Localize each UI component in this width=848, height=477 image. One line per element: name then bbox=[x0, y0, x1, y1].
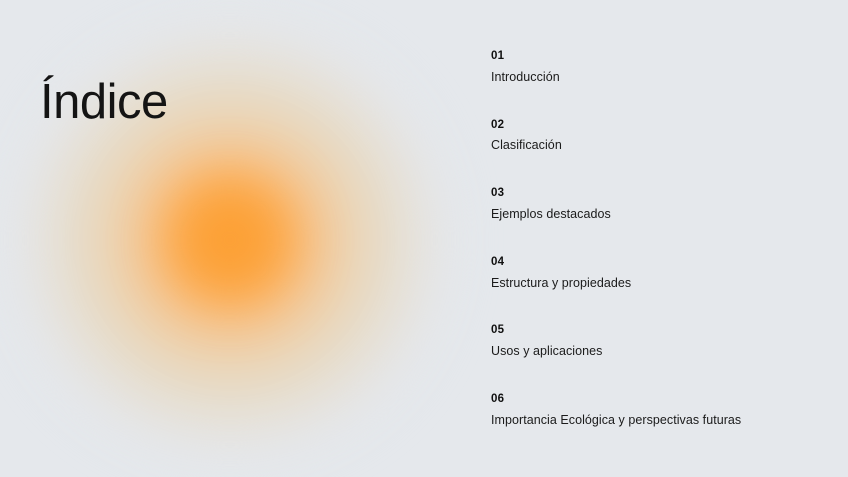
toc-item-02[interactable]: 02 Clasificación bbox=[491, 117, 821, 156]
toc-item-number: 05 bbox=[491, 322, 821, 340]
slide-canvas: Índice 01 Introducción 02 Clasificación … bbox=[0, 0, 848, 477]
table-of-contents: 01 Introducción 02 Clasificación 03 Ejem… bbox=[491, 48, 821, 429]
page-title: Índice bbox=[40, 77, 168, 128]
toc-item-number: 06 bbox=[491, 391, 821, 409]
toc-item-03[interactable]: 03 Ejemplos destacados bbox=[491, 185, 821, 224]
toc-item-label: Importancia Ecológica y perspectivas fut… bbox=[491, 411, 821, 430]
toc-item-label: Usos y aplicaciones bbox=[491, 342, 821, 361]
orange-blob-core bbox=[155, 165, 305, 315]
toc-item-label: Introducción bbox=[491, 68, 821, 87]
toc-item-number: 04 bbox=[491, 254, 821, 272]
toc-item-label: Ejemplos destacados bbox=[491, 205, 821, 224]
toc-item-number: 02 bbox=[491, 117, 821, 135]
toc-item-label: Estructura y propiedades bbox=[491, 274, 821, 293]
toc-item-06[interactable]: 06 Importancia Ecológica y perspectivas … bbox=[491, 391, 821, 430]
toc-item-number: 03 bbox=[491, 185, 821, 203]
toc-item-number: 01 bbox=[491, 48, 821, 66]
toc-item-01[interactable]: 01 Introducción bbox=[491, 48, 821, 87]
toc-item-04[interactable]: 04 Estructura y propiedades bbox=[491, 254, 821, 293]
toc-item-05[interactable]: 05 Usos y aplicaciones bbox=[491, 322, 821, 361]
toc-item-label: Clasificación bbox=[491, 136, 821, 155]
